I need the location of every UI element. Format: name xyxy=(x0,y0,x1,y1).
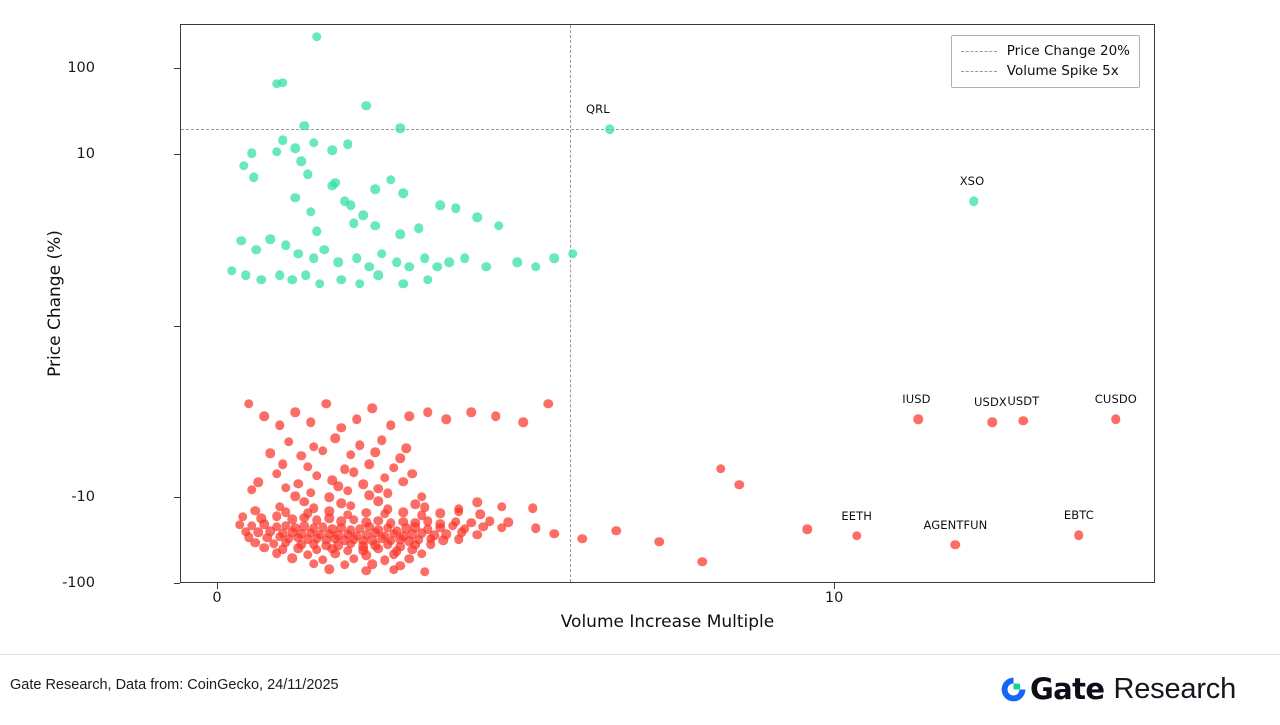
y-tick-label: -10 xyxy=(5,489,95,505)
point-label-eeth: EETH xyxy=(841,509,872,523)
legend-label: Price Change 20% xyxy=(1007,43,1130,59)
point-label-usdt: USDT xyxy=(1007,394,1039,408)
point-annotations-layer: QRLXSOIUSDUSDXUSDTCUSDOEETHAGENTFUNEBTC xyxy=(181,25,1154,582)
point-label-xso: XSO xyxy=(960,174,985,188)
x-tick-label: 0 xyxy=(212,590,221,606)
point-label-cusdo: CUSDO xyxy=(1095,392,1137,406)
chart-figure: Price Change (%) 10010-10-100 010 QRLXSO… xyxy=(0,0,1280,654)
plot-area: QRLXSOIUSDUSDXUSDTCUSDOEETHAGENTFUNEBTC … xyxy=(180,24,1155,583)
brand-name-primary: Gate xyxy=(1030,672,1105,706)
footer-source-note: Gate Research, Data from: CoinGecko, 24/… xyxy=(10,677,339,693)
chart-legend: Price Change 20%Volume Spike 5x xyxy=(951,35,1140,88)
x-tick-mark xyxy=(834,583,835,589)
point-label-usdx: USDX xyxy=(974,395,1007,409)
brand-lockup: Gate Research xyxy=(1000,669,1236,709)
legend-label: Volume Spike 5x xyxy=(1007,63,1119,79)
y-tick-label: 10 xyxy=(5,146,95,162)
x-tick-mark xyxy=(217,583,218,589)
point-label-agentfun: AGENTFUN xyxy=(923,518,987,532)
legend-dash-swatch xyxy=(961,71,997,72)
legend-item: Price Change 20% xyxy=(961,41,1130,61)
legend-dash-swatch xyxy=(961,51,997,52)
point-label-ebtc: EBTC xyxy=(1064,508,1094,522)
y-tick-label: -100 xyxy=(5,575,95,591)
gate-logo-icon xyxy=(1000,676,1027,703)
y-tick-label: 100 xyxy=(5,60,95,76)
footer-bar: Gate Research, Data from: CoinGecko, 24/… xyxy=(0,654,1280,725)
point-label-iusd: IUSD xyxy=(902,392,930,406)
x-tick-label: 10 xyxy=(825,590,843,606)
x-axis-label: Volume Increase Multiple xyxy=(180,612,1155,632)
point-label-qrl: QRL xyxy=(586,102,610,116)
legend-item: Volume Spike 5x xyxy=(961,61,1130,81)
brand-name-secondary: Research xyxy=(1113,673,1236,706)
y-tick-mark xyxy=(174,583,180,584)
